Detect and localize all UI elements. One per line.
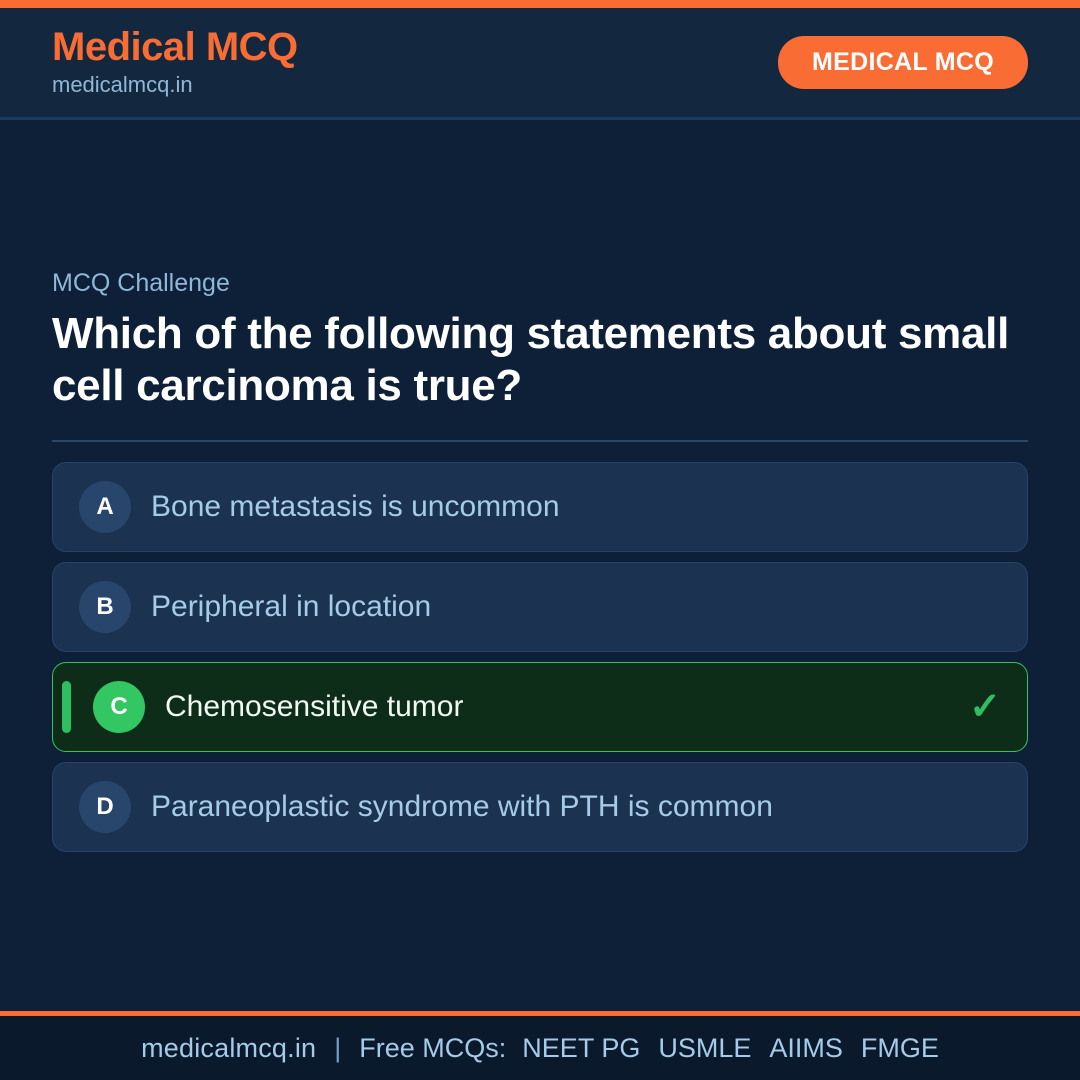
option-label: Paraneoplastic syndrome with PTH is comm… (151, 788, 985, 826)
correct-accent-bar (62, 681, 71, 733)
footer-tag-usmle: USMLE (658, 1033, 751, 1064)
brand: Medical MCQ medicalmcq.in (52, 26, 298, 98)
footer-separator: | (334, 1033, 341, 1064)
option-letter-badge: C (93, 681, 145, 733)
main-content: MCQ Challenge Which of the following sta… (0, 120, 1080, 1011)
footer-tag-fmge: FMGE (861, 1033, 939, 1064)
mcq-card: Medical MCQ medicalmcq.in MEDICAL MCQ MC… (0, 0, 1080, 1080)
options-list: A Bone metastasis is uncommon B Peripher… (52, 462, 1028, 852)
option-label: Chemosensitive tumor (165, 688, 953, 726)
footer-tags: NEET PG USMLE AIIMS FMGE (522, 1033, 939, 1064)
footer-site[interactable]: medicalmcq.in (141, 1033, 316, 1064)
option-a[interactable]: A Bone metastasis is uncommon (52, 462, 1028, 552)
top-spacer (52, 120, 1028, 268)
top-accent-bar (0, 0, 1080, 8)
option-d[interactable]: D Paraneoplastic syndrome with PTH is co… (52, 762, 1028, 852)
option-label: Peripheral in location (151, 588, 985, 626)
header: Medical MCQ medicalmcq.in MEDICAL MCQ (0, 8, 1080, 120)
check-icon: ✓ (969, 688, 1001, 726)
brand-title: Medical MCQ (52, 26, 298, 68)
option-label: Bone metastasis is uncommon (151, 488, 985, 526)
question-divider (52, 440, 1028, 442)
header-badge: MEDICAL MCQ (778, 36, 1028, 89)
footer-tag-neetpg: NEET PG (522, 1033, 640, 1064)
brand-url: medicalmcq.in (52, 72, 298, 98)
question-text: Which of the following statements about … (52, 308, 1028, 412)
option-letter-badge: D (79, 781, 131, 833)
footer: medicalmcq.in | Free MCQs: NEET PG USMLE… (0, 1016, 1080, 1080)
option-letter-badge: A (79, 481, 131, 533)
option-c[interactable]: C Chemosensitive tumor ✓ (52, 662, 1028, 752)
footer-prefix: Free MCQs: (359, 1033, 506, 1064)
eyebrow-label: MCQ Challenge (52, 268, 1028, 298)
option-letter-badge: B (79, 581, 131, 633)
option-b[interactable]: B Peripheral in location (52, 562, 1028, 652)
bottom-spacer (52, 852, 1028, 1011)
footer-tag-aiims: AIIMS (769, 1033, 843, 1064)
